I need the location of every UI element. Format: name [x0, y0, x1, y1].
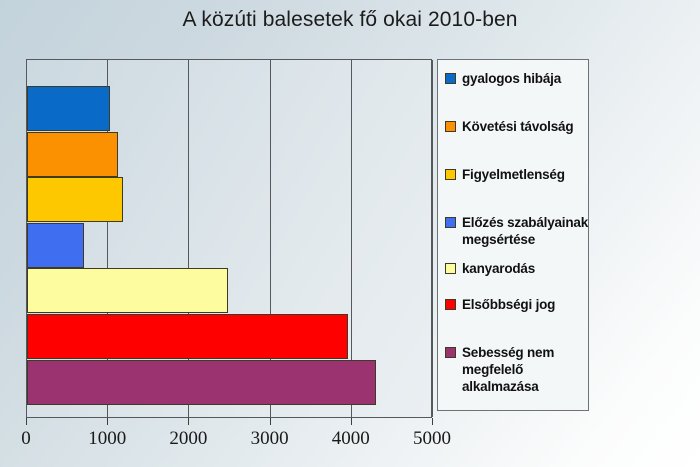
- chart-plot-area: [26, 59, 432, 418]
- bar-series: [27, 60, 431, 417]
- x-axis-tick: [351, 418, 352, 425]
- x-axis-tick: [26, 418, 27, 425]
- legend-item-label: Elsőbbségi jog: [462, 296, 555, 313]
- legend-color-swatch-icon: [445, 217, 456, 228]
- legend-color-swatch-icon: [445, 347, 456, 358]
- legend-color-swatch-icon: [445, 299, 456, 310]
- legend-item-label: Előzés szabályainak megsértése: [462, 214, 591, 248]
- legend-item[interactable]: Előzés szabályainak megsértése: [445, 214, 591, 248]
- bar: [27, 360, 376, 405]
- legend-item[interactable]: Sebesség nem megfelelő alkalmazása: [445, 344, 591, 395]
- x-axis-tick-label: 0: [21, 428, 31, 450]
- bar: [27, 314, 348, 359]
- legend-color-swatch-icon: [445, 73, 456, 84]
- legend-item[interactable]: Figyelmetlenség: [445, 166, 591, 183]
- x-axis-tick-label: 4000: [332, 428, 370, 450]
- page-title: A közúti balesetek fő okai 2010-ben: [0, 8, 700, 32]
- legend-item[interactable]: Követési távolság: [445, 118, 591, 135]
- legend-item-label: Követési távolság: [462, 118, 573, 135]
- x-axis-tick: [432, 418, 433, 425]
- bar: [27, 86, 110, 131]
- x-axis: 010002000300040005000: [26, 418, 432, 464]
- x-axis-tick-label: 3000: [251, 428, 289, 450]
- x-axis-tick: [188, 418, 189, 425]
- x-axis-tick-label: 2000: [169, 428, 207, 450]
- legend-color-swatch-icon: [445, 169, 456, 180]
- x-axis-tick: [107, 418, 108, 425]
- chart-legend: gyalogos hibájaKövetési távolságFigyelme…: [437, 59, 589, 411]
- bar: [27, 177, 123, 222]
- legend-item[interactable]: gyalogos hibája: [445, 70, 591, 87]
- legend-item[interactable]: kanyarodás: [445, 260, 591, 277]
- legend-item-label: Figyelmetlenség: [462, 166, 565, 183]
- bar: [27, 223, 84, 268]
- x-axis-tick-label: 5000: [413, 428, 451, 450]
- bar: [27, 268, 228, 313]
- legend-item-label: kanyarodás: [462, 260, 535, 277]
- legend-item[interactable]: Elsőbbségi jog: [445, 296, 591, 313]
- slide-canvas: A közúti balesetek fő okai 2010-ben 0100…: [0, 0, 700, 467]
- legend-color-swatch-icon: [445, 121, 456, 132]
- x-axis-tick-label: 1000: [88, 428, 126, 450]
- x-axis-tick: [270, 418, 271, 425]
- legend-color-swatch-icon: [445, 263, 456, 274]
- bar: [27, 132, 118, 177]
- legend-item-label: gyalogos hibája: [462, 70, 561, 87]
- legend-item-label: Sebesség nem megfelelő alkalmazása: [462, 344, 591, 395]
- gridline: [432, 60, 433, 417]
